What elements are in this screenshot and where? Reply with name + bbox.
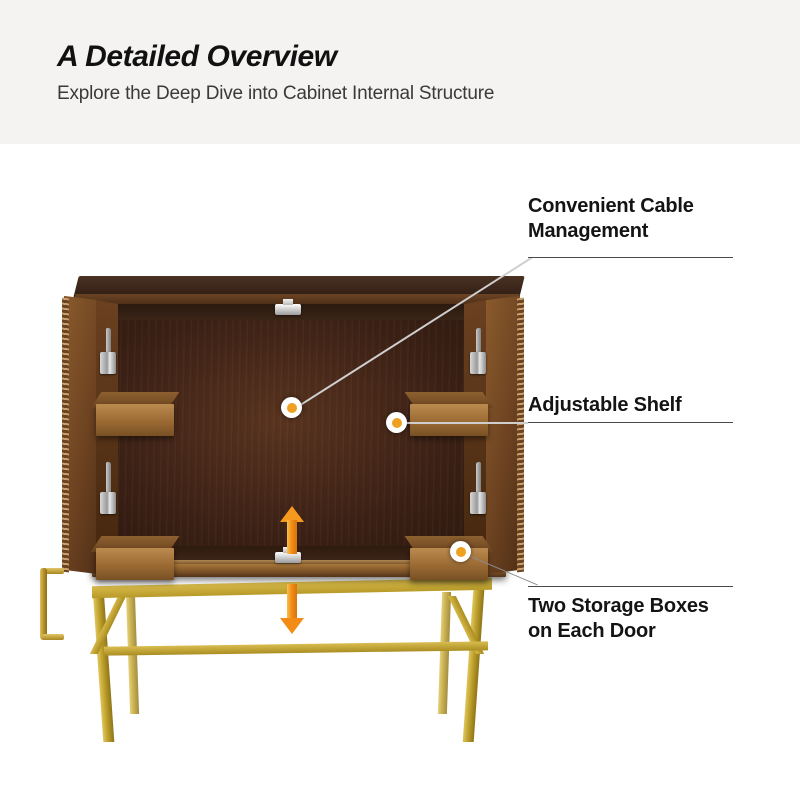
right-hinge-lower <box>470 492 486 514</box>
marker-dot <box>287 403 297 413</box>
left-door-fluted-edge <box>62 298 69 573</box>
marker-cable-management[interactable] <box>281 397 302 418</box>
leg-stretcher-bar <box>104 641 488 655</box>
callout-label-adjustable-shelf: Adjustable Shelf <box>528 393 682 418</box>
right-door-panel <box>486 296 520 574</box>
rule-adjustable-shelf <box>528 422 733 423</box>
product-photo: Convenient Cable Management Adjustable S… <box>0 144 800 800</box>
leg-back-right <box>438 592 451 714</box>
left-door-storage-box-upper <box>96 392 174 436</box>
marker-dot <box>392 418 402 428</box>
box-front-face <box>96 404 174 436</box>
page-subtitle: Explore the Deep Dive into Cabinet Inter… <box>57 83 494 105</box>
header-band: A Detailed Overview Explore the Deep Div… <box>0 0 800 144</box>
left-door-panel <box>64 296 98 574</box>
top-door-latch <box>275 304 301 315</box>
right-door-storage-box-upper <box>410 392 488 436</box>
infographic-page: A Detailed Overview Explore the Deep Div… <box>0 0 800 800</box>
arrow-shaft-down <box>287 584 297 618</box>
shelf-lower-arrow <box>280 584 304 634</box>
page-title: A Detailed Overview <box>57 40 337 74</box>
marker-adjustable-shelf[interactable] <box>386 412 407 433</box>
marker-storage-boxes[interactable] <box>450 541 471 562</box>
leader-line-adjustable-shelf <box>400 422 528 424</box>
leg-front-right <box>463 590 485 742</box>
right-door-fluted-edge <box>517 298 524 573</box>
arrow-head-down <box>280 618 304 634</box>
left-door-storage-box-lower <box>96 536 174 580</box>
shelf-raise-arrow <box>280 506 304 554</box>
handle-arm-bottom <box>42 634 64 640</box>
marker-dot <box>456 547 466 557</box>
left-hinge-upper <box>100 352 116 374</box>
left-hinge-lower <box>100 492 116 514</box>
rule-cable-management <box>528 257 733 258</box>
box-front-face <box>96 548 174 580</box>
box-front-face <box>410 404 488 436</box>
callout-label-cable-management: Convenient Cable Management <box>528 194 694 244</box>
arrow-shaft-up <box>287 520 297 554</box>
callout-label-storage-boxes: Two Storage Boxes on Each Door <box>528 594 709 644</box>
rule-storage-boxes <box>528 586 733 587</box>
box-front-face <box>410 548 488 580</box>
right-hinge-upper <box>470 352 486 374</box>
left-door-handle[interactable] <box>40 568 47 640</box>
